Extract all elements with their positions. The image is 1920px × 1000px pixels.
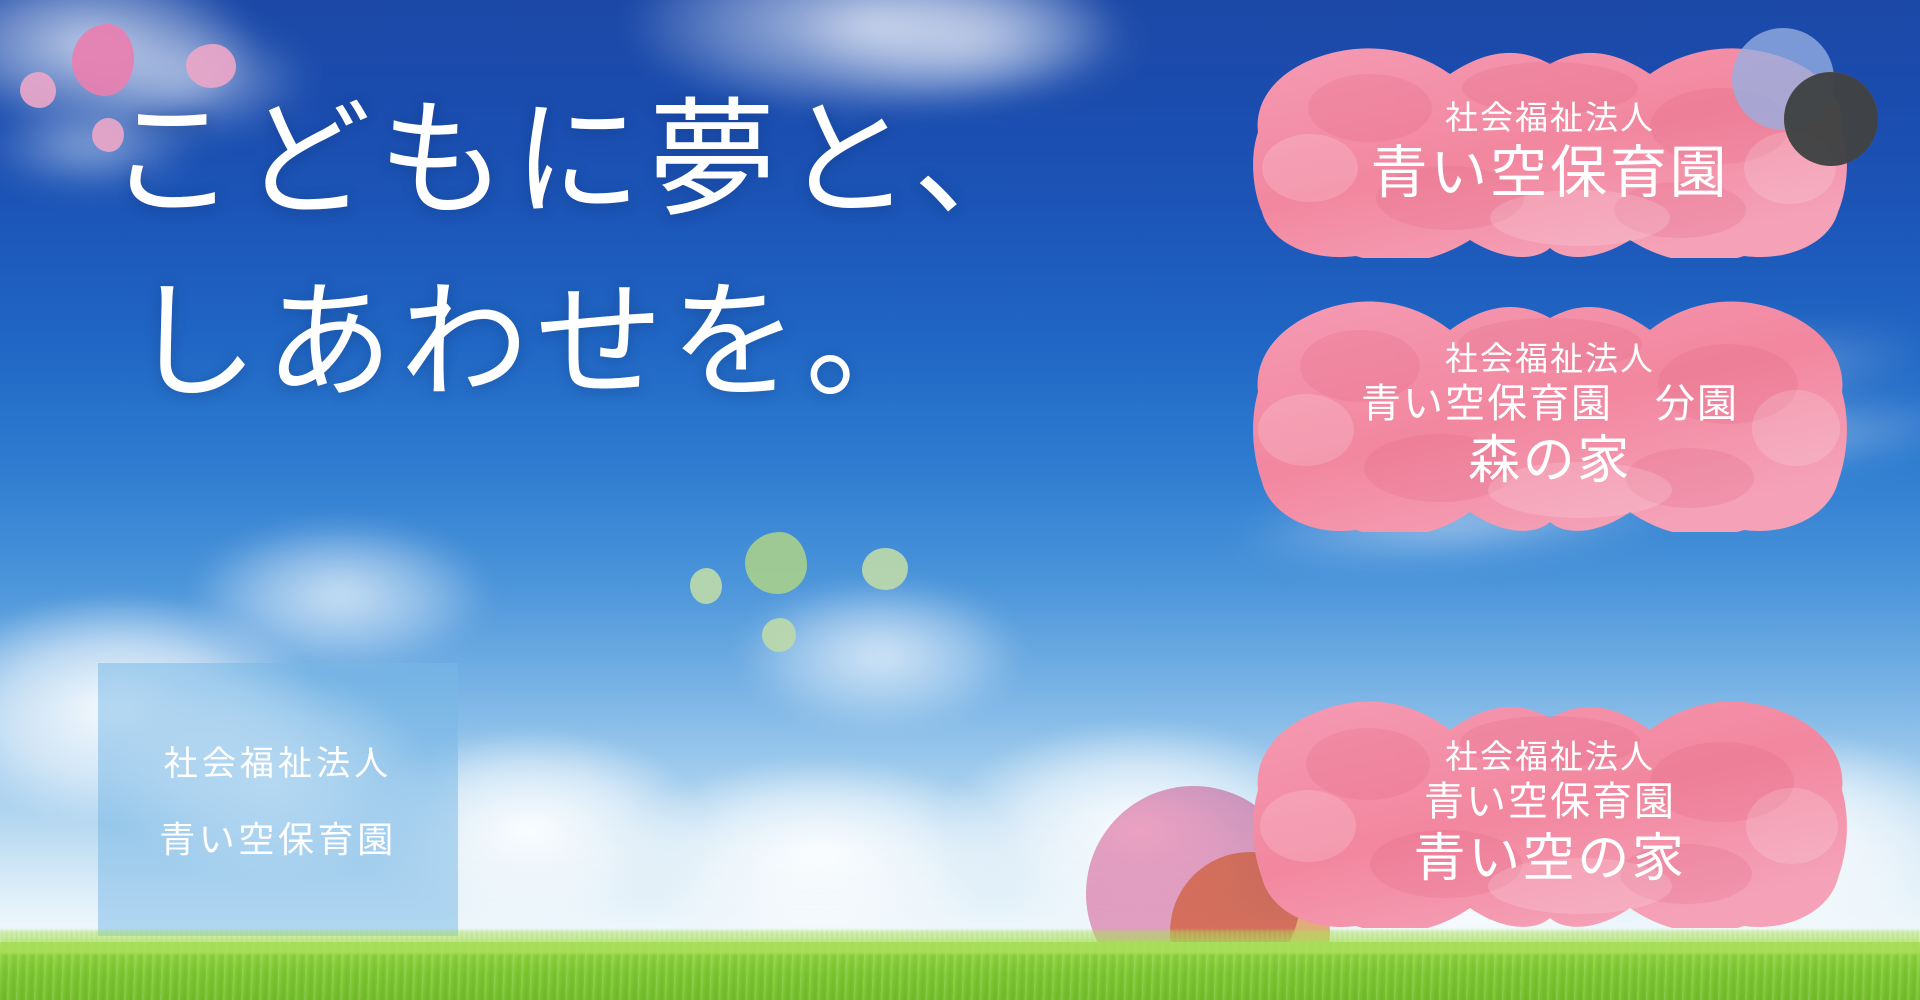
logo-box[interactable]: 社会福祉法人 青い空保育園: [98, 663, 458, 936]
card-morinoie-line-2: 青い空保育園 分園: [1250, 380, 1850, 429]
headline-line-1: こどもに夢と、: [108, 86, 1048, 235]
card-honen-line-2: 青い空保育園: [1250, 139, 1850, 209]
headline-line-2: しあわせを。: [130, 252, 1048, 434]
hero-banner: こどもに夢と、しあわせを。 社会福祉法人 青い空保育園: [0, 0, 1920, 1000]
decorative-blob-green-large: [745, 532, 807, 594]
logo-box-line-2: 青い空保育園: [159, 811, 397, 863]
page-title: こどもに夢と、しあわせを。: [108, 70, 1048, 434]
decorative-blob-green-left: [690, 568, 722, 604]
card-honen-line-1: 社会福祉法人: [1250, 97, 1850, 139]
card-aoisoranoie-line-1: 社会福祉法人: [1250, 736, 1850, 778]
logo-box-line-1: 社会福祉法人: [164, 736, 392, 785]
decorative-blob-pink-small: [20, 72, 56, 108]
card-morinoie-line-1: 社会福祉法人: [1250, 338, 1850, 380]
card-aoisoranoie-line-3: 青い空の家: [1250, 827, 1850, 891]
card-aoisoranoie[interactable]: 社会福祉法人 青い空保育園 青い空の家: [1250, 700, 1850, 928]
grass-foreground: [0, 942, 1920, 1000]
card-morinoie[interactable]: 社会福祉法人 青い空保育園 分園 森の家: [1250, 300, 1850, 532]
card-aoisoranoie-line-2: 青い空保育園: [1250, 778, 1850, 827]
decorative-blob-green-right: [862, 548, 908, 590]
card-morinoie-line-3: 森の家: [1250, 429, 1850, 493]
decorative-blob-green-small: [762, 618, 796, 652]
